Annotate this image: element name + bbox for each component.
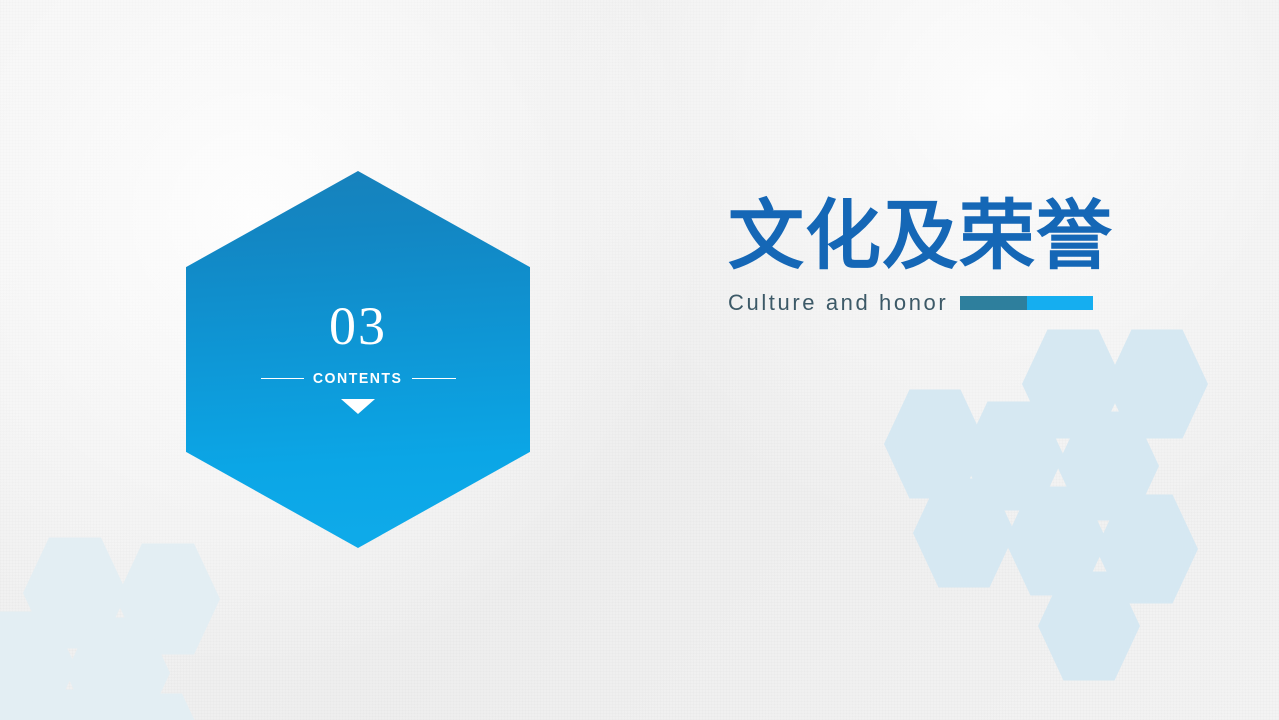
contents-label: CONTENTS <box>308 370 409 387</box>
deco-right-hexagon <box>1005 483 1107 599</box>
deco-left-hexagon <box>116 540 220 658</box>
deco-left-hexagon <box>0 608 76 720</box>
subtitle-row: Culture and honor <box>728 290 1148 316</box>
deco-right-hexagon <box>1106 326 1208 442</box>
title-block: 文化及荣誉 Culture and honor <box>728 196 1148 316</box>
deco-right-hexagon <box>1057 408 1159 524</box>
section-number-hexagon[interactable]: 03 CONTENTS <box>186 171 530 548</box>
contents-rule-left <box>261 378 305 380</box>
accent-bar <box>960 296 1093 310</box>
section-number: 03 <box>329 299 387 353</box>
contents-rule-right <box>412 378 456 380</box>
accent-bar-left-segment <box>960 296 1027 310</box>
presentation-slide: 03 CONTENTS 文化及荣誉 Culture and honor <box>0 0 1279 720</box>
deco-right-hexagon <box>1096 491 1198 607</box>
page-title: 文化及荣誉 <box>728 196 1148 278</box>
deco-left-hexagon <box>66 614 170 720</box>
contents-label-row: CONTENTS <box>261 370 456 387</box>
deco-left-hexagon <box>104 690 208 720</box>
page-subtitle: Culture and honor <box>728 290 948 316</box>
accent-bar-right-segment <box>1027 296 1094 310</box>
deco-left-hexagon <box>23 534 127 652</box>
deco-right-hexagon <box>884 386 986 502</box>
deco-left-hexagon <box>12 686 116 720</box>
deco-right-hexagon <box>1038 568 1140 684</box>
triangle-down-icon <box>341 399 375 414</box>
deco-right-hexagon <box>962 398 1064 514</box>
deco-right-hexagon <box>913 475 1015 591</box>
hexagon-content: 03 CONTENTS <box>186 171 530 548</box>
deco-right-hexagon <box>1022 326 1124 442</box>
